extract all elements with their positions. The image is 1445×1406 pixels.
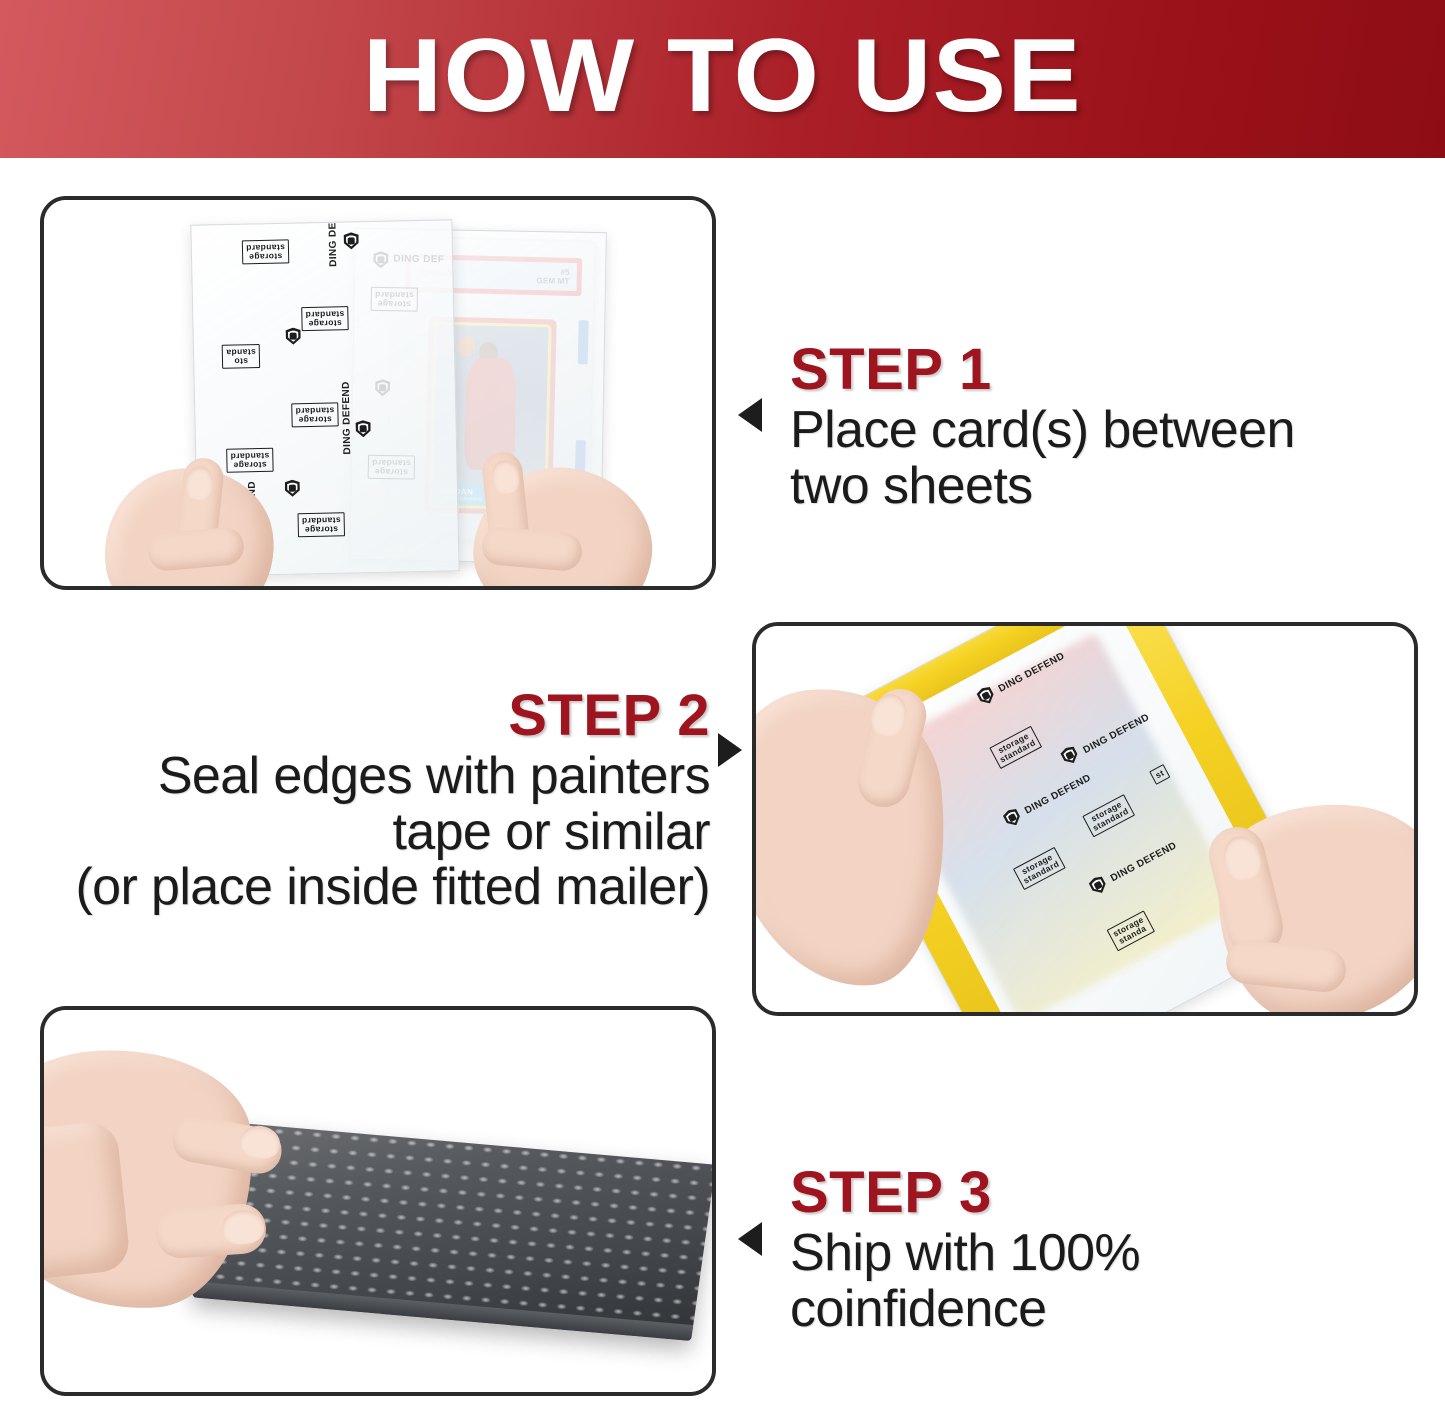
ding-defend-shield-icon [355,420,370,437]
panel-2-photo: geard DING DEFEND S DEFEND storagestanda… [756,626,1414,1012]
storage-standard-mark: stostanda [222,344,260,368]
arrow-left-icon [738,1222,762,1256]
step-3-title: STEP 3 [790,1163,1390,1222]
step-1-photo-panel: JORDAN #5GEM MT JORDAN GUARD FORWARD [40,196,716,590]
step-3-body: Ship with 100% coinfidence [790,1226,1390,1337]
step-2-body-line: tape or similar [10,805,710,861]
page-title: HOW TO USE [363,24,1082,134]
storage-standard-mark: storagestandard [291,403,339,428]
panel-1-photo: JORDAN #5GEM MT JORDAN GUARD FORWARD [44,200,712,586]
ding-defend-shield-icon [285,480,300,497]
storage-standard-mark: storagestandard [226,448,274,473]
storage-standard-mark: storagestandard [297,513,345,538]
storage-standard-mark: storagestandard [242,240,290,265]
step-3-photo-panel [40,1006,716,1396]
step-2-photo-panel: geard DING DEFEND S DEFEND storagestanda… [752,622,1418,1016]
ding-defend-mark: DING DEFEND [341,381,354,455]
step-2-body: Seal edges with painters tape or similar… [10,749,710,916]
step-2-body-line: (or place inside fitted mailer) [10,860,710,916]
header-banner: HOW TO USE [0,0,1445,158]
step-2-text: STEP 2 Seal edges with painters tape or … [10,686,710,916]
step-3-body-line: coinfidence [790,1282,1390,1338]
ding-defend-shield-icon [344,232,359,249]
step-3-text: STEP 3 Ship with 100% coinfidence [790,1163,1390,1337]
step-1-title: STEP 1 [790,340,1390,399]
step-1-text: STEP 1 Place card(s) between two sheets [790,340,1390,514]
arrow-right-icon [718,733,742,767]
ding-defend-mark: DING DEFEND [327,219,340,267]
storage-standard-mark: storagestandard [301,306,349,331]
step-1-body: Place card(s) between two sheets [790,403,1390,514]
wrist [44,1120,131,1290]
step-2-title: STEP 2 [10,686,710,745]
step-3-body-line: Ship with 100% [790,1226,1390,1282]
step-1-body-line: two sheets [790,459,1390,515]
arrow-left-icon [738,398,762,432]
step-1-body-line: Place card(s) between [790,403,1390,459]
panel-3-photo [44,1010,712,1392]
step-2-body-line: Seal edges with painters [10,749,710,805]
ding-defend-shield-icon [286,327,301,344]
